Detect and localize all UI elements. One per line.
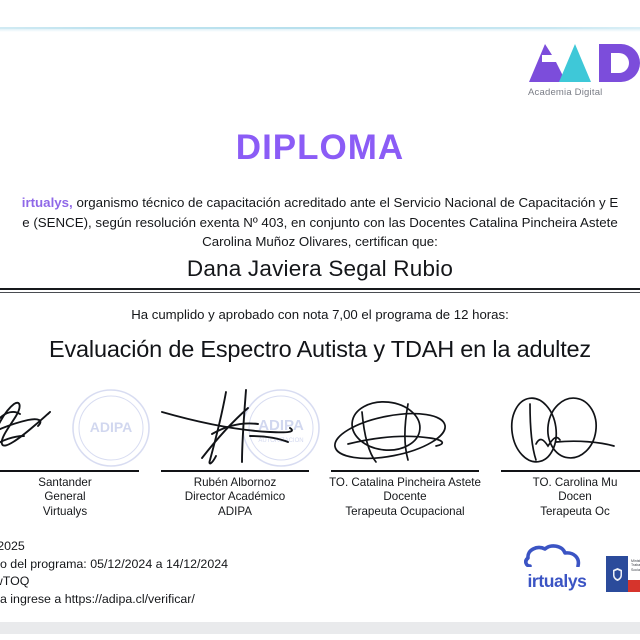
gob-red-band [628, 580, 640, 592]
certification-paragraph: irtualys, organismo técnico de capacitac… [0, 193, 640, 252]
signature-row: ADIPA Santander General V [0, 382, 640, 519]
virtualys-logo: irtualys [524, 543, 590, 592]
student-name: Dana Javiera Segal Rubio [0, 256, 640, 286]
footer-line-code: 2owTOQ [0, 573, 228, 591]
signature-name-4: TO. Carolina Mu [490, 476, 640, 491]
virtualys-logo-text: irtualys [524, 571, 590, 592]
name-rule-thin [0, 292, 640, 293]
signature-block-3: TO. Catalina Pincheira Astete Docente Te… [320, 382, 490, 519]
course-title: Evaluación de Espectro Autista y TDAH en… [0, 336, 640, 363]
signature-role-4: Docen [490, 490, 640, 505]
next-page-top-edge [0, 634, 640, 640]
signature-role-2: Director Académico [150, 490, 320, 505]
paragraph-line-3: Carolina Muñoz Olivares, certifican que: [0, 232, 640, 252]
signature-art-3 [320, 382, 490, 470]
signature-rule-3 [331, 470, 479, 472]
signature-name-1: Santander [0, 476, 150, 491]
pdf-viewport[interactable]: Academia Digital DIPLOMA irtualys, organ… [0, 0, 640, 640]
signature-art-2: ADIPA AUTORIZACION [150, 382, 320, 470]
adipa-logo: Academia Digital [525, 38, 640, 98]
diploma-page: Academia Digital DIPLOMA irtualys, organ… [0, 0, 640, 622]
adipa-logo-mark [525, 38, 640, 84]
signature-name-2: Rubén Albornoz [150, 476, 320, 491]
virtualys-brand-text: irtualys, [22, 195, 73, 210]
top-border-glow [0, 29, 640, 32]
gobierno-chile-logo: Ministerio del Trabajo y Previsión Socia… [606, 556, 640, 592]
signature-role-3: Docente [320, 490, 490, 505]
signature-art-4 [490, 382, 640, 470]
ministry-label: Ministerio del Trabajo y Previsión Socia… [628, 556, 640, 580]
name-rule-thick [0, 288, 640, 290]
signature-rule-1 [0, 470, 139, 472]
footer-line-program-dates: mino del programa: 05/12/2024 a 14/12/20… [0, 556, 228, 574]
ministry-label-block: Ministerio del Trabajo y Previsión Socia… [628, 556, 640, 592]
paragraph-line-2: e (SENCE), según resolución exenta Nº 40… [0, 213, 640, 233]
footer-line-date: de 2025 [0, 538, 228, 556]
paragraph-line-1-rest: organismo técnico de capacitación acredi… [76, 195, 618, 210]
signature-name-3: TO. Catalina Pincheira Astete [320, 476, 490, 491]
signature-rule-4 [501, 470, 640, 472]
page-title: DIPLOMA [0, 128, 640, 168]
paragraph-line-1: irtualys, organismo técnico de capacitac… [0, 193, 640, 213]
footer-details: de 2025 mino del programa: 05/12/2024 a … [0, 538, 228, 608]
signature-rule-2 [161, 470, 309, 472]
footer-line-verification: loma ingrese a https://adipa.cl/verifica… [0, 591, 228, 609]
escudo-icon [606, 556, 628, 592]
signature-art-1: ADIPA [0, 382, 150, 470]
signature-role-1: General [0, 490, 150, 505]
virtualys-cloud-icon [524, 554, 590, 571]
signature-org-2: ADIPA [150, 505, 320, 520]
signature-block-1: ADIPA Santander General V [0, 382, 150, 519]
footer-logo-group: irtualys Ministerio del Trabajo y Previs… [524, 543, 640, 592]
adipa-logo-subtitle: Academia Digital [528, 87, 640, 98]
signature-org-1: Virtualys [0, 505, 150, 520]
grade-statement: Ha cumplido y aprobado con nota 7,00 el … [0, 307, 640, 322]
signature-block-2: ADIPA AUTORIZACION [150, 382, 320, 519]
signature-block-4: TO. Carolina Mu Docen Terapeuta Oc [490, 382, 640, 519]
signature-org-4: Terapeuta Oc [490, 505, 640, 520]
student-name-block: Dana Javiera Segal Rubio [0, 256, 640, 293]
signature-org-3: Terapeuta Ocupacional [320, 505, 490, 520]
